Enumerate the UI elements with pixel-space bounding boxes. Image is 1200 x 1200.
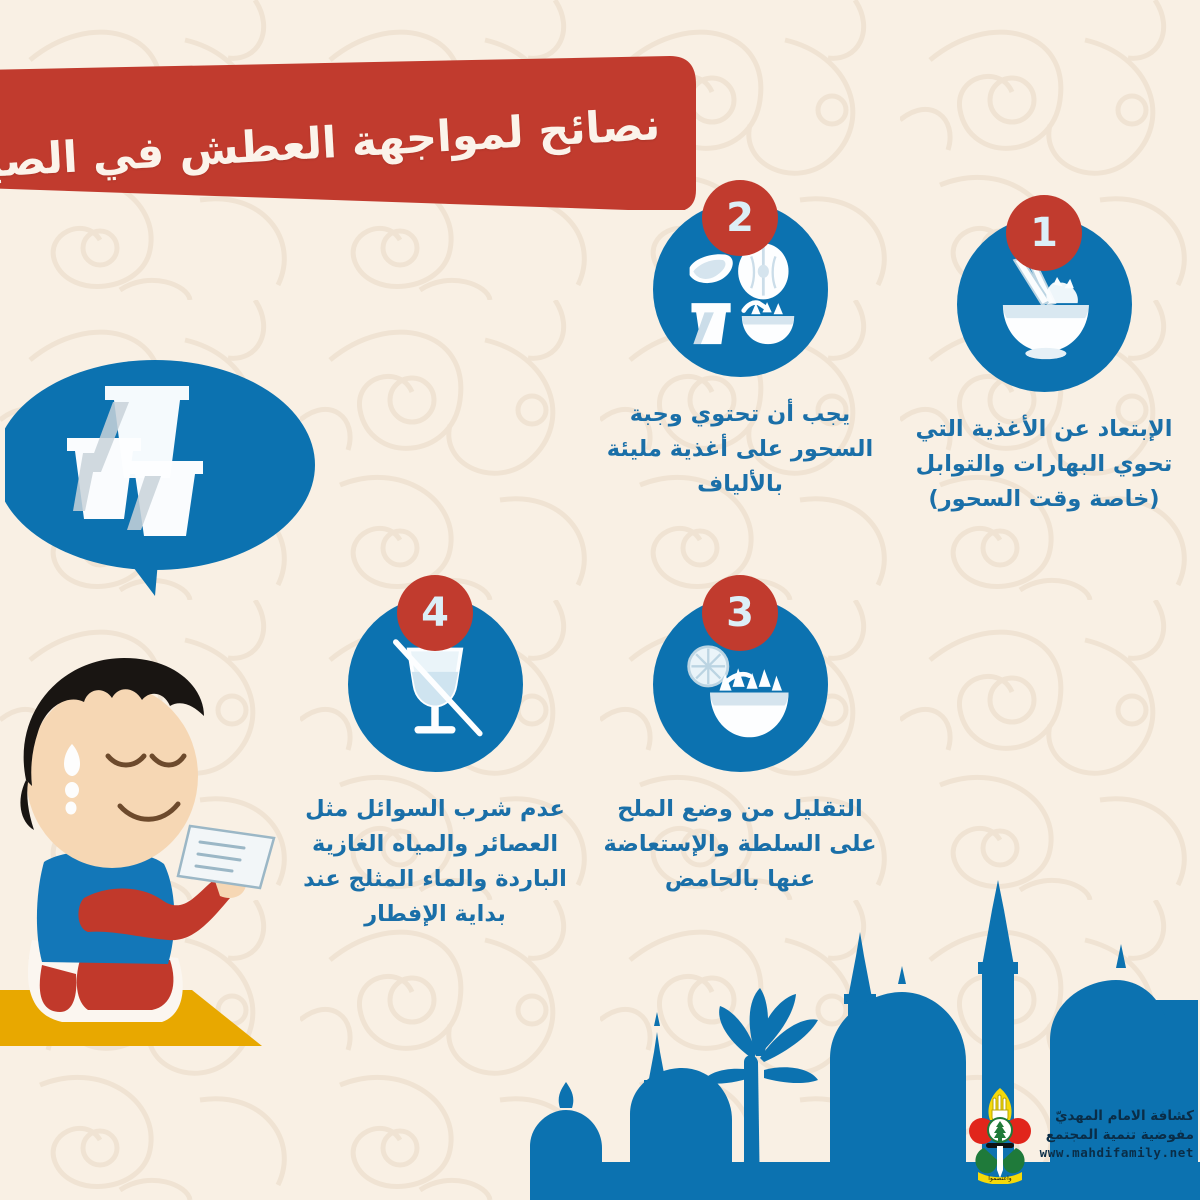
svg-text:واعتصموا: واعتصموا (988, 1175, 1011, 1182)
tip-2-text: يجب أن تحتوي وجبة السحور على أغذية مليئة… (590, 397, 890, 502)
scout-emblem-icon: واعتصموا (968, 1086, 1032, 1184)
tip-4-text: عدم شرب السوائل مثل العصائر والمياه الغا… (285, 792, 585, 932)
footer-logo[interactable]: واعتصموا كشافة الامام المهديّ مفوضية تنم… (968, 1086, 1194, 1184)
org-name-line-2: مفوضية تنمية المجتمع (1040, 1126, 1194, 1144)
tip-card-4: 4 عدم شرب السوائل مثل العصائر والمياه ال… (285, 575, 585, 932)
website-url[interactable]: www.mahdifamily.net (1040, 1144, 1194, 1163)
tip-card-1: 1 الإبتعاد عن الأغذية التي تحوي البهارات… (894, 195, 1194, 517)
tip-card-2: 2 (590, 180, 890, 502)
salad-bowl-icon (742, 302, 794, 344)
lemon-slice-icon (689, 646, 728, 685)
logo-text-block: كشافة الامام المهديّ مفوضية تنمية المجتم… (1040, 1107, 1194, 1162)
tip-2-number-badge: 2 (702, 180, 778, 256)
tip-3-text: التقليل من وضع الملح على السلطة والإستعا… (590, 792, 890, 897)
org-name-line-1: كشافة الامام المهديّ (1040, 1107, 1194, 1125)
praying-boy-illustration (0, 640, 332, 1060)
tip-3-icon-wrap: 3 (653, 575, 828, 770)
tip-2-icon-wrap: 2 (653, 180, 828, 375)
banana-icon (690, 254, 733, 283)
tip-3-number-badge: 3 (702, 575, 778, 651)
tip-1-number-badge: 1 (1006, 195, 1082, 271)
salad-greens (719, 668, 782, 690)
tip-card-3: 3 (590, 575, 890, 897)
cup-icon (691, 303, 730, 344)
speech-bubble (5, 358, 325, 608)
tip-4-icon-wrap: 4 (348, 575, 523, 770)
tip-1-icon-wrap: 1 (957, 195, 1132, 390)
tip-1-text: الإبتعاد عن الأغذية التي تحوي البهارات و… (894, 412, 1194, 517)
tip-4-number-badge: 4 (397, 575, 473, 651)
